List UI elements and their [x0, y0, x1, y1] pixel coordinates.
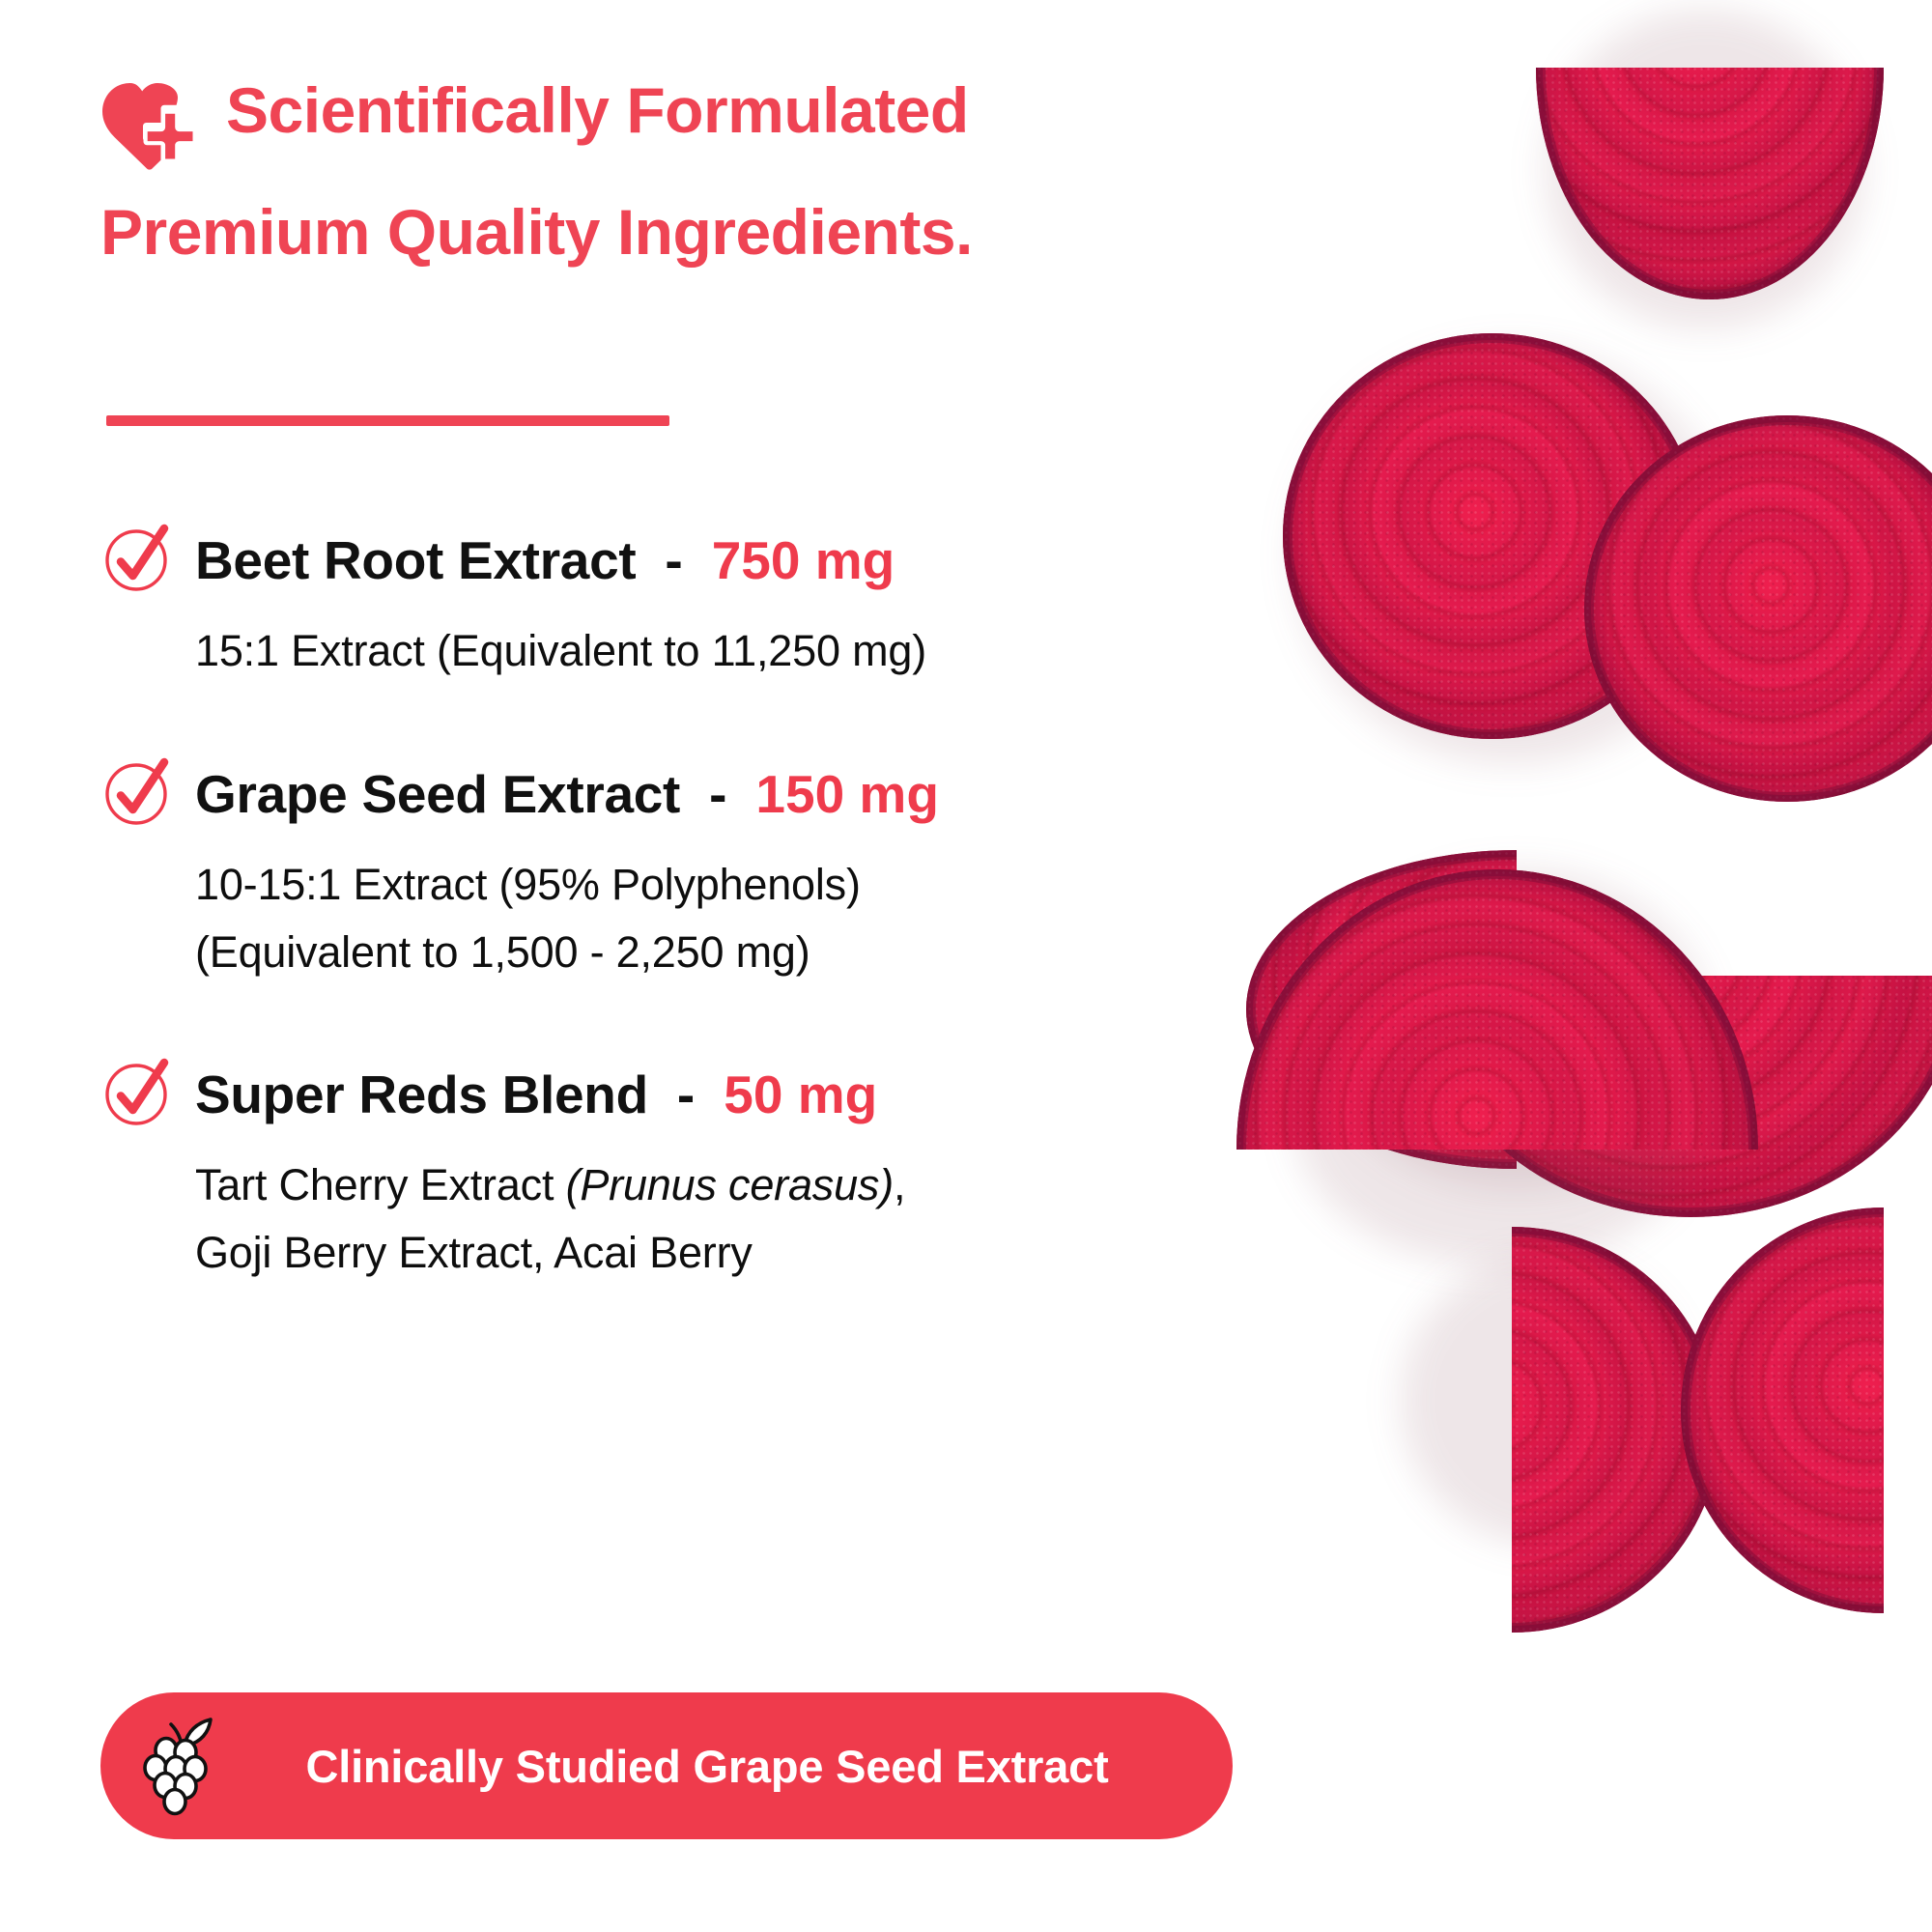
detail-line: Goji Berry Extract, Acai Berry: [195, 1219, 1221, 1287]
clinical-badge[interactable]: Clinically Studied Grape Seed Extract: [100, 1692, 1233, 1839]
ingredient-item-grape-seed: Grape Seed Extract - 150 mg 10-15:1 Extr…: [100, 760, 1221, 986]
beet-photo-collage: [1179, 0, 1932, 1932]
content-column: Scientifically Formulated Premium Qualit…: [0, 0, 1256, 1932]
check-circle-icon: [100, 1057, 172, 1128]
ingredient-dose: 50 mg: [724, 1064, 877, 1125]
detail-text-before: Tart Cherry Extract: [195, 1160, 566, 1209]
beet-slice-right-round: [1584, 415, 1932, 802]
ingredient-name: Grape Seed Extract: [195, 763, 680, 825]
ingredient-item-super-reds: Super Reds Blend - 50 mg Tart Cherry Ext…: [100, 1061, 1221, 1287]
ingredient-detail: 15:1 Extract (Equivalent to 11,250 mg): [195, 617, 1221, 685]
infographic-canvas: Scientifically Formulated Premium Qualit…: [0, 0, 1932, 1932]
detail-line: 10-15:1 Extract (95% Polyphenols): [195, 851, 1221, 919]
ingredient-head: Grape Seed Extract - 150 mg: [100, 760, 1221, 828]
ingredient-detail: 10-15:1 Extract (95% Polyphenols) (Equiv…: [195, 851, 1221, 986]
headline-line-1: Scientifically Formulated: [226, 70, 969, 151]
ingredient-detail: Tart Cherry Extract (Prunus cerasus), Go…: [195, 1151, 1221, 1287]
ingredient-dash: -: [659, 529, 688, 591]
title-divider: [106, 415, 669, 426]
clinical-badge-label: Clinically Studied Grape Seed Extract: [228, 1740, 1233, 1793]
ingredient-name: Beet Root Extract: [195, 529, 636, 591]
grape-icon: [139, 1716, 228, 1816]
heading-row: Scientifically Formulated: [100, 70, 1192, 174]
detail-line: 15:1 Extract (Equivalent to 11,250 mg): [195, 617, 1221, 685]
ingredient-dose: 750 mg: [712, 529, 895, 591]
ingredient-list: Beet Root Extract - 750 mg 15:1 Extract …: [100, 526, 1221, 1362]
detail-line-with-latin: Tart Cherry Extract (Prunus cerasus),: [195, 1151, 1221, 1219]
ingredient-item-beet-root: Beet Root Extract - 750 mg 15:1 Extract …: [100, 526, 1221, 685]
ingredient-head: Super Reds Blend - 50 mg: [100, 1061, 1221, 1128]
beet-slice-bottom-small-wedge: [1304, 1227, 1719, 1633]
botanical-name: (Prunus cerasus): [566, 1160, 894, 1209]
headline-block: Scientifically Formulated Premium Qualit…: [100, 70, 1192, 272]
heart-plus-icon: [100, 81, 201, 174]
ingredient-name: Super Reds Blend: [195, 1064, 648, 1125]
ingredient-dose: 150 mg: [755, 763, 939, 825]
ingredient-dash: -: [671, 1064, 700, 1125]
detail-line: (Equivalent to 1,500 - 2,250 mg): [195, 919, 1221, 986]
ingredient-dash: -: [703, 763, 732, 825]
ingredient-head: Beet Root Extract - 750 mg: [100, 526, 1221, 594]
check-circle-icon: [100, 756, 172, 828]
check-circle-icon: [100, 523, 172, 594]
detail-text-after: ,: [894, 1160, 905, 1209]
beet-slice-bottom-right-edge: [1681, 1207, 1932, 1613]
headline-line-2: Premium Quality Ingredients.: [100, 191, 1192, 272]
